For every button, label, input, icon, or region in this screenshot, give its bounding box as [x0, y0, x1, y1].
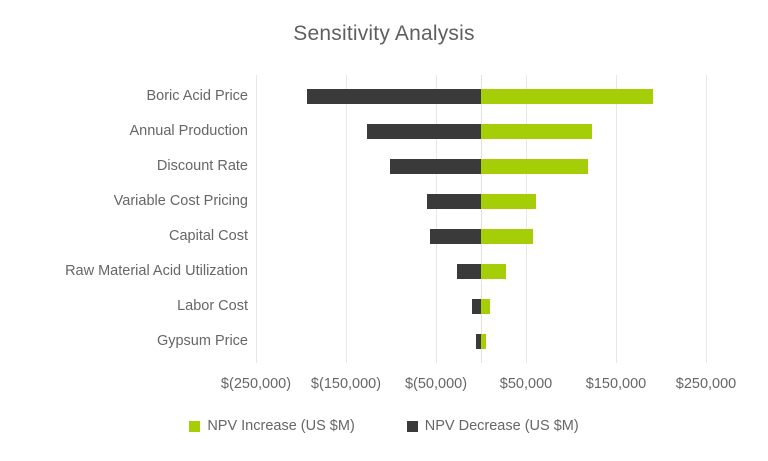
bar-npv-increase — [481, 299, 490, 314]
category-label: Variable Cost Pricing — [0, 194, 248, 209]
axis-tick-label: $(50,000) — [405, 374, 467, 394]
chart-legend: NPV Increase (US $M)NPV Decrease (US $M) — [0, 418, 768, 434]
bar-npv-increase — [481, 334, 486, 349]
bar-npv-decrease — [307, 89, 481, 104]
bar-npv-decrease — [457, 264, 481, 279]
bar-npv-increase — [481, 124, 592, 139]
bar-npv-decrease — [427, 194, 481, 209]
gridline — [526, 75, 527, 363]
category-label: Annual Production — [0, 124, 248, 139]
axis-tick-label: $(250,000) — [221, 374, 291, 394]
category-label: Capital Cost — [0, 229, 248, 244]
bar-npv-increase — [481, 89, 653, 104]
category-label: Discount Rate — [0, 159, 248, 174]
value-axis: $(250,000)$(150,000)$(50,000)$50,000$150… — [0, 374, 768, 396]
category-axis: Boric Acid PriceAnnual ProductionDiscoun… — [0, 75, 248, 363]
bar-npv-decrease — [390, 159, 481, 174]
gridline — [616, 75, 617, 363]
bar-npv-increase — [481, 264, 506, 279]
chart-title: Sensitivity Analysis — [0, 22, 768, 46]
legend-swatch-icon — [189, 421, 200, 432]
legend-item[interactable]: NPV Increase (US $M) — [189, 418, 354, 434]
category-label: Labor Cost — [0, 299, 248, 314]
gridline — [346, 75, 347, 363]
gridline — [256, 75, 257, 363]
category-label: Raw Material Acid Utilization — [0, 264, 248, 279]
axis-tick-label: $(150,000) — [311, 374, 381, 394]
bar-npv-increase — [481, 229, 533, 244]
legend-swatch-icon — [407, 421, 418, 432]
legend-item[interactable]: NPV Decrease (US $M) — [407, 418, 579, 434]
axis-tick-label: $150,000 — [586, 374, 646, 394]
axis-tick-label: $50,000 — [500, 374, 552, 394]
bar-npv-decrease — [472, 299, 481, 314]
bar-npv-increase — [481, 194, 536, 209]
axis-tick-label: $250,000 — [676, 374, 736, 394]
gridline — [436, 75, 437, 363]
category-label: Gypsum Price — [0, 334, 248, 349]
legend-label: NPV Decrease (US $M) — [425, 418, 579, 434]
sensitivity-analysis-chart: Sensitivity Analysis Boric Acid PriceAnn… — [0, 0, 768, 461]
plot-area — [256, 75, 706, 363]
bar-npv-decrease — [367, 124, 481, 139]
bar-npv-increase — [481, 159, 588, 174]
bar-npv-decrease — [430, 229, 481, 244]
category-label: Boric Acid Price — [0, 89, 248, 104]
gridline — [706, 75, 707, 363]
legend-label: NPV Increase (US $M) — [207, 418, 354, 434]
zero-axis-line — [481, 75, 482, 363]
